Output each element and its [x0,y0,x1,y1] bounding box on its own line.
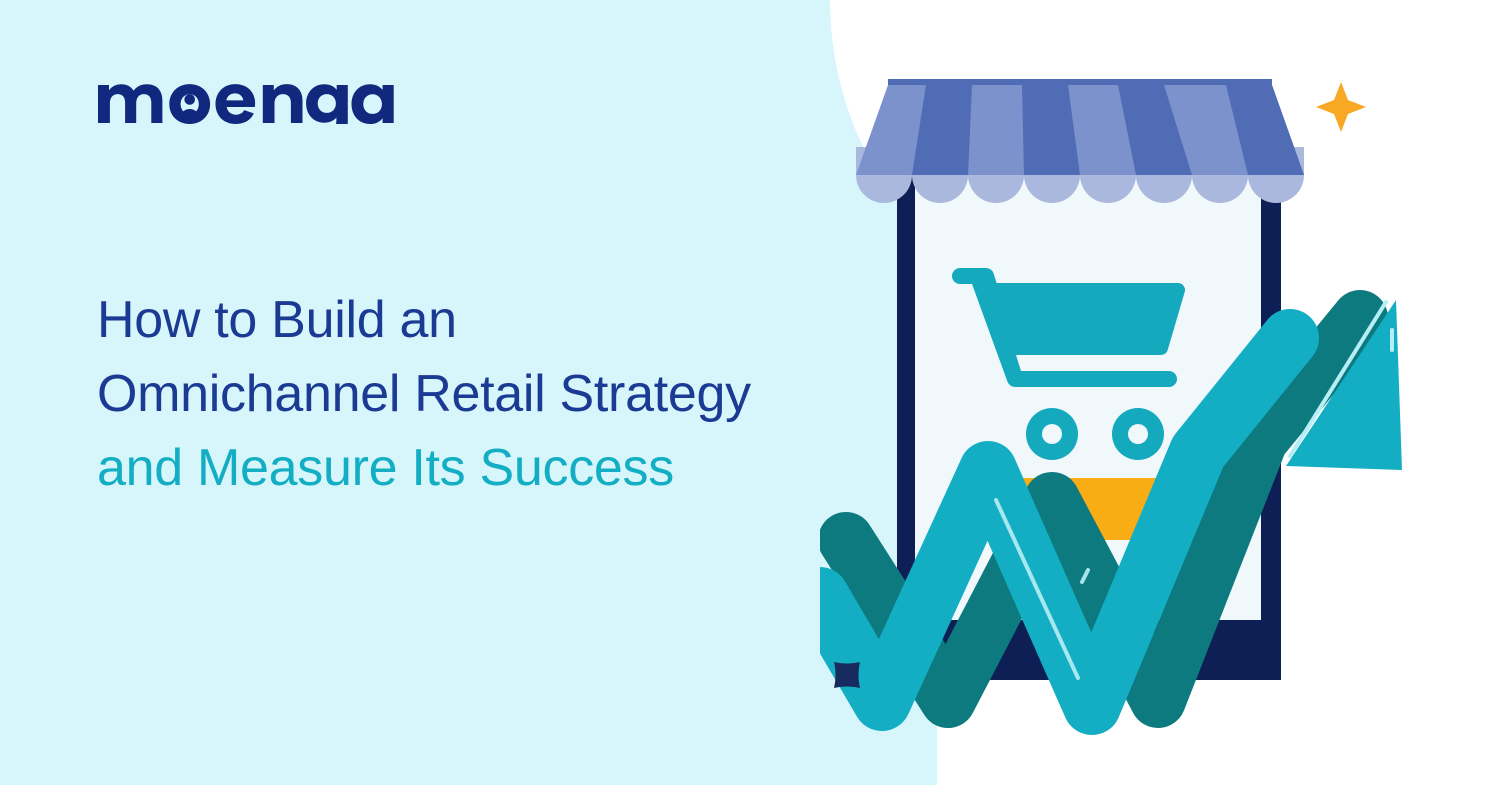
sparkle-orange-icon [1316,82,1366,132]
sparkle-navy-icon [834,662,860,688]
headline-line-1: How to Build an [97,283,897,357]
headline: How to Build an Omnichannel Retail Strat… [97,283,897,505]
omnichannel-retail-storefront-illustration [820,0,1460,785]
headline-line-2: Omnichannel Retail Strategy [97,357,897,431]
marketing-banner: How to Build an Omnichannel Retail Strat… [0,0,1500,785]
headline-line-3: and Measure Its Success [97,431,897,505]
moengage-logo[interactable] [98,68,410,124]
